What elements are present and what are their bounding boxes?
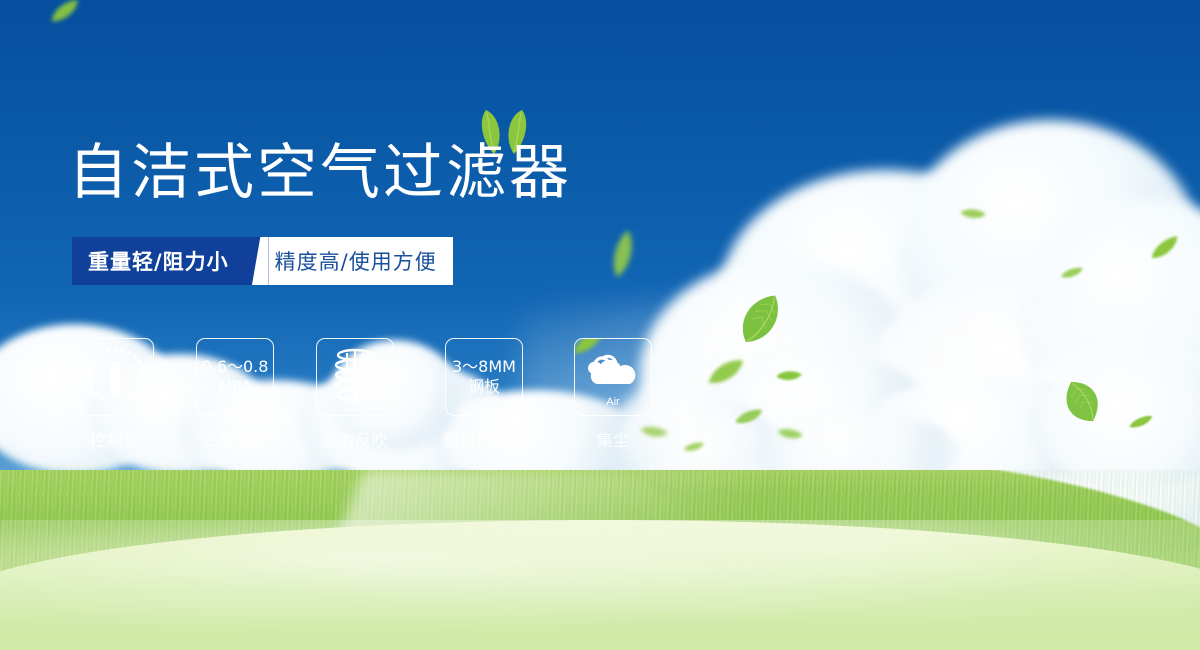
feature-label: 集尘 — [596, 427, 629, 451]
feature-icon-box — [316, 338, 394, 416]
feature-item-pressure[interactable]: 0.6～0.8 MPA 二级过滤 — [196, 338, 274, 451]
subtitle-left-badge: 重量轻/阻力小 — [72, 237, 247, 285]
steel-material: 钢板 — [452, 377, 516, 397]
feature-icon-box: NO OFF — [76, 338, 154, 416]
feature-item-controller[interactable]: NO OFF 控制仪 — [76, 338, 154, 451]
steel-plate-icon: 3～8MM 钢板 — [452, 357, 516, 396]
gauge-needle-icon — [111, 361, 120, 397]
feature-label: 钢结构强度 — [443, 427, 526, 451]
gauge-off-label: OFF — [129, 396, 145, 403]
feature-item-dust[interactable]: Air 集尘 — [574, 338, 652, 451]
cloud-air-icon — [583, 352, 643, 403]
pressure-icon: 0.6～0.8 MPA — [202, 357, 269, 396]
floating-leaf-icon — [775, 366, 803, 385]
feature-label: 强力反吹 — [322, 427, 388, 451]
air-label: Air — [575, 396, 651, 408]
feature-item-backblow[interactable]: 强力反吹 — [316, 338, 394, 451]
feature-label: 二级过滤 — [202, 427, 268, 451]
steel-thickness: 3～8MM — [452, 357, 516, 377]
feature-icon-box: 0.6～0.8 MPA — [196, 338, 274, 416]
filter-coil-icon — [329, 347, 381, 408]
product-banner: 自洁式空气过滤器 重量轻/阻力小 精度高/使用方便 — [0, 0, 1200, 650]
feature-icon-box: Air — [574, 338, 652, 416]
gauge-no-label: NO — [84, 373, 96, 380]
gauge-icon: NO OFF — [86, 348, 144, 406]
floating-leaf-icon — [682, 439, 705, 455]
feature-item-steel[interactable]: 3～8MM 钢板 钢结构强度 — [436, 338, 532, 451]
feature-icon-box: 3～8MM 钢板 — [445, 338, 523, 416]
feature-list: NO OFF 控制仪 0.6～0.8 MPA 二级过滤 — [76, 338, 652, 451]
pressure-value: 0.6～0.8 — [202, 357, 269, 377]
grass-field — [0, 470, 1200, 650]
pressure-unit: MPA — [202, 377, 269, 397]
subtitle-bar: 重量轻/阻力小 精度高/使用方便 — [72, 237, 453, 285]
feature-label: 控制仪 — [90, 427, 140, 451]
subtitle-right-badge: 精度高/使用方便 — [269, 237, 453, 285]
subtitle-divider — [247, 237, 269, 285]
page-title: 自洁式空气过滤器 — [68, 143, 572, 203]
